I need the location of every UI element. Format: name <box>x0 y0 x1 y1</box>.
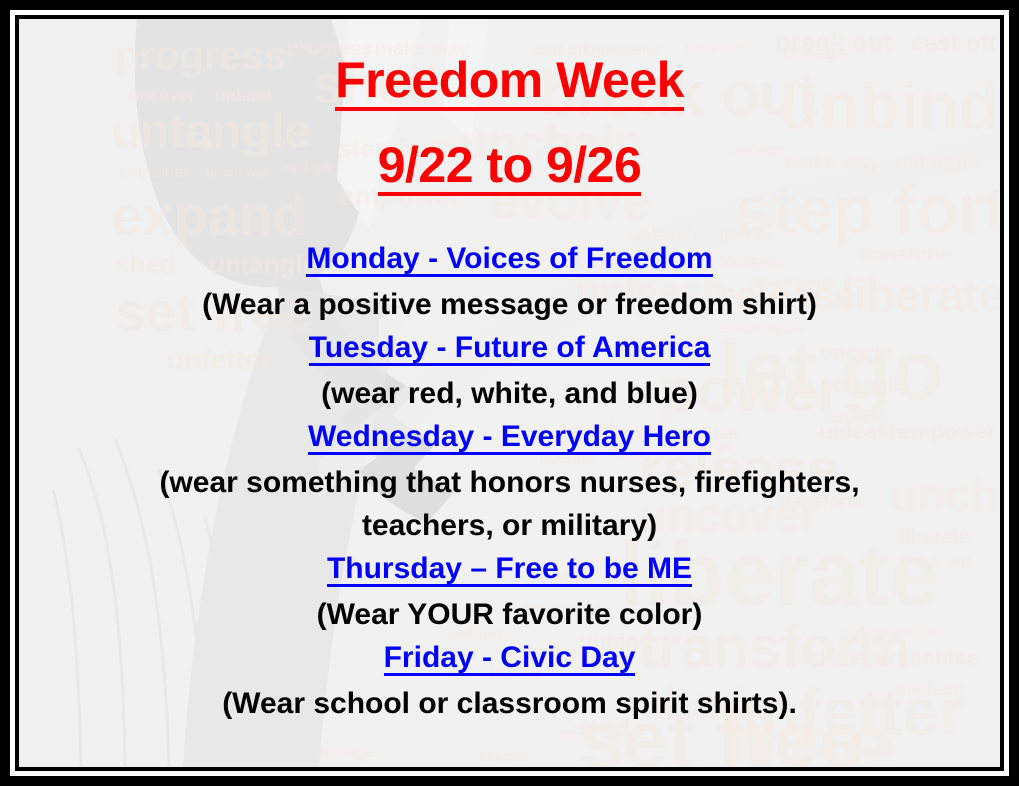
flyer-canvas: progress uncover unbind untangle empower… <box>19 19 1000 767</box>
page-title-text: Freedom Week <box>335 55 684 111</box>
day-heading-monday: Monday - Voices of Freedom <box>37 238 982 284</box>
day-heading-tuesday-text: Tuesday - Future of America <box>309 333 711 366</box>
schedule-item-monday: Monday - Voices of Freedom (Wear a posit… <box>37 238 982 327</box>
day-heading-friday: Friday - Civic Day <box>37 637 982 683</box>
day-heading-friday-text: Friday - Civic Day <box>384 643 636 676</box>
flyer-poster: progress uncover unbind untangle empower… <box>0 0 1019 786</box>
schedule-item-tuesday: Tuesday - Future of America (wear red, w… <box>37 327 982 416</box>
day-detail-friday: (Wear school or classroom spirit shirts)… <box>37 683 982 726</box>
day-heading-tuesday: Tuesday - Future of America <box>37 327 982 373</box>
date-range: 9/22 to 9/26 <box>37 140 982 196</box>
page-title: Freedom Week <box>37 55 982 111</box>
day-detail-wednesday: (wear something that honors nurses, fire… <box>37 462 982 548</box>
day-detail-thursday: (Wear YOUR favorite color) <box>37 594 982 637</box>
day-detail-tuesday: (wear red, white, and blue) <box>37 373 982 416</box>
day-heading-thursday: Thursday – Free to be ME <box>37 548 982 594</box>
schedule-item-friday: Friday - Civic Day (Wear school or class… <box>37 637 982 726</box>
day-heading-wednesday-text: Wednesday - Everyday Hero <box>308 422 711 455</box>
day-detail-wednesday-line2: teachers, or military) <box>37 498 982 541</box>
day-detail-wednesday-line1: (wear something that honors nurses, fire… <box>159 466 859 499</box>
flyer-border-inner-black: progress uncover unbind untangle empower… <box>15 15 1004 771</box>
schedule-item-thursday: Thursday – Free to be ME (Wear YOUR favo… <box>37 548 982 637</box>
day-heading-monday-text: Monday - Voices of Freedom <box>306 244 712 277</box>
day-heading-wednesday: Wednesday - Everyday Hero <box>37 416 982 462</box>
schedule-list: Monday - Voices of Freedom (Wear a posit… <box>37 238 982 726</box>
day-detail-monday: (Wear a positive message or freedom shir… <box>37 284 982 327</box>
day-heading-thursday-text: Thursday – Free to be ME <box>327 554 692 587</box>
flyer-border-white: progress uncover unbind untangle empower… <box>10 10 1009 776</box>
flyer-content: Freedom Week 9/22 to 9/26 Monday - Voice… <box>19 19 1000 767</box>
date-range-text: 9/22 to 9/26 <box>378 140 642 196</box>
schedule-item-wednesday: Wednesday - Everyday Hero (wear somethin… <box>37 416 982 548</box>
